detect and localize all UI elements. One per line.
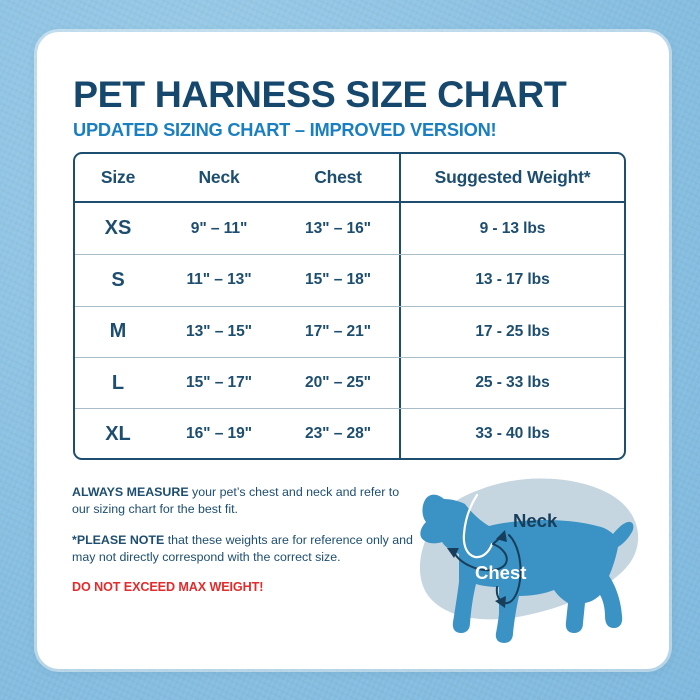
cell-neck: 13" – 15" (161, 323, 277, 341)
table-row: XS 9" – 11" 13" – 16" 9 - 13 lbs (75, 203, 624, 254)
table-row: L 15" – 17" 20" – 25" 25 - 33 lbs (75, 357, 624, 408)
cell-weight-wrap: 9 - 13 lbs (399, 203, 624, 254)
column-header-size: Size (75, 167, 161, 188)
cell-neck: 16" – 19" (161, 425, 277, 443)
table-row: XL 16" – 19" 23" – 28" 33 - 40 lbs (75, 408, 624, 459)
cell-weight: 17 - 25 lbs (475, 323, 549, 341)
note-please-note: *PLEASE NOTE that these weights are for … (72, 532, 420, 566)
size-chart-table: Size Neck Chest Suggested Weight* XS 9" … (73, 152, 626, 460)
cell-neck: 11" – 13" (161, 271, 277, 289)
label-neck: Neck (513, 510, 558, 531)
page-title: PET HARNESS SIZE CHART (73, 75, 633, 114)
cell-chest: 13" – 16" (277, 220, 399, 238)
note-max-weight-warning: DO NOT EXCEED MAX WEIGHT! (72, 580, 420, 594)
label-chest: Chest (475, 562, 526, 583)
column-header-suggested-weight-label: Suggested Weight* (435, 167, 591, 188)
table-header-row: Size Neck Chest Suggested Weight* (75, 154, 624, 203)
cell-weight-wrap: 33 - 40 lbs (399, 409, 624, 459)
cell-weight-wrap: 25 - 33 lbs (399, 358, 624, 408)
cell-size: XS (75, 217, 161, 240)
cell-size: S (75, 269, 161, 292)
dog-measurement-illustration: Neck Chest (413, 462, 645, 647)
cell-chest: 20" – 25" (277, 374, 399, 392)
cell-weight: 25 - 33 lbs (475, 374, 549, 392)
cell-size: L (75, 372, 161, 395)
note-always-measure-bold: ALWAYS MEASURE (72, 485, 189, 499)
table-row: M 13" – 15" 17" – 21" 17 - 25 lbs (75, 306, 624, 357)
cell-weight: 9 - 13 lbs (480, 220, 546, 238)
cell-weight: 13 - 17 lbs (475, 271, 549, 289)
cell-chest: 15" – 18" (277, 271, 399, 289)
table-row: S 11" – 13" 15" – 18" 13 - 17 lbs (75, 254, 624, 305)
cell-chest: 17" – 21" (277, 323, 399, 341)
title-block: PET HARNESS SIZE CHART UPDATED SIZING CH… (73, 75, 633, 141)
cell-chest: 23" – 28" (277, 425, 399, 443)
column-header-chest: Chest (277, 167, 399, 188)
cell-neck: 15" – 17" (161, 374, 277, 392)
column-header-suggested-weight: Suggested Weight* (399, 154, 624, 201)
cell-weight: 33 - 40 lbs (475, 425, 549, 443)
page-subtitle: UPDATED SIZING CHART – IMPROVED VERSION! (73, 119, 633, 141)
note-always-measure: ALWAYS MEASURE your pet’s chest and neck… (72, 484, 420, 518)
cell-size: XL (75, 423, 161, 446)
size-chart-card: PET HARNESS SIZE CHART UPDATED SIZING CH… (37, 32, 669, 669)
note-please-note-bold: *PLEASE NOTE (72, 533, 164, 547)
column-header-neck: Neck (161, 167, 277, 188)
cell-weight-wrap: 13 - 17 lbs (399, 255, 624, 305)
cell-weight-wrap: 17 - 25 lbs (399, 307, 624, 357)
notes-block: ALWAYS MEASURE your pet’s chest and neck… (72, 484, 420, 594)
cell-neck: 9" – 11" (161, 220, 277, 238)
cell-size: M (75, 320, 161, 343)
